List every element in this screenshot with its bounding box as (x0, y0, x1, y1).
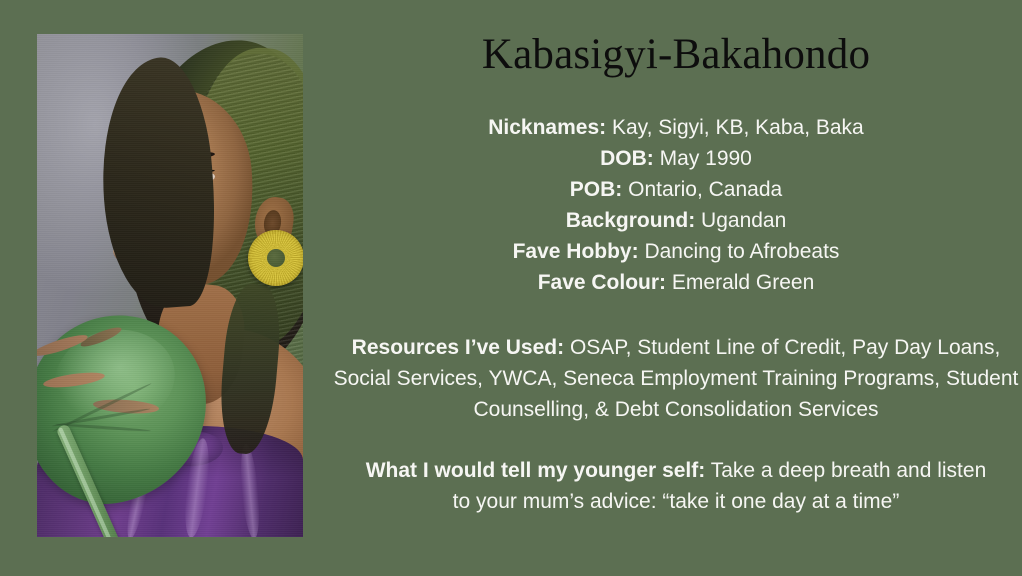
resources-paragraph: Resources I’ve Used: OSAP, Student Line … (330, 332, 1022, 425)
facts-list: Nicknames: Kay, Sigyi, KB, Kaba, Baka DO… (330, 112, 1022, 298)
fact-value: Ontario, Canada (628, 178, 782, 201)
fact-row: Fave Hobby: Dancing to Afrobeats (330, 236, 1022, 267)
portrait-photo-inner (37, 34, 303, 537)
fact-value: May 1990 (660, 147, 752, 170)
text-column: Kabasigyi-Bakahondo Nicknames: Kay, Sigy… (330, 0, 1022, 576)
slide-canvas: Kabasigyi-Bakahondo Nicknames: Kay, Sigy… (0, 0, 1022, 576)
fact-value: Kay, Sigyi, KB, Kaba, Baka (612, 116, 864, 139)
advice-label: What I would tell my younger self: (366, 459, 706, 482)
fact-row: Nicknames: Kay, Sigyi, KB, Kaba, Baka (330, 112, 1022, 143)
fact-row: Background: Ugandan (330, 205, 1022, 236)
fact-value: Dancing to Afrobeats (644, 240, 839, 263)
fact-row: POB: Ontario, Canada (330, 174, 1022, 205)
fact-label: Fave Colour: (538, 271, 666, 294)
fact-row: DOB: May 1990 (330, 143, 1022, 174)
fact-value: Ugandan (701, 209, 786, 232)
fact-value: Emerald Green (672, 271, 814, 294)
advice-paragraph: What I would tell my younger self: Take … (330, 455, 1022, 517)
page-title: Kabasigyi-Bakahondo (330, 30, 1022, 79)
hoop-earring-hole (267, 249, 285, 267)
fact-label: POB: (570, 178, 623, 201)
resources-label: Resources I’ve Used: (352, 336, 564, 359)
fact-label: Background: (566, 209, 696, 232)
fact-label: DOB: (600, 147, 654, 170)
fact-row: Fave Colour: Emerald Green (330, 267, 1022, 298)
portrait-photo (37, 34, 303, 537)
fact-label: Nicknames: (488, 116, 606, 139)
fact-label: Fave Hobby: (513, 240, 639, 263)
